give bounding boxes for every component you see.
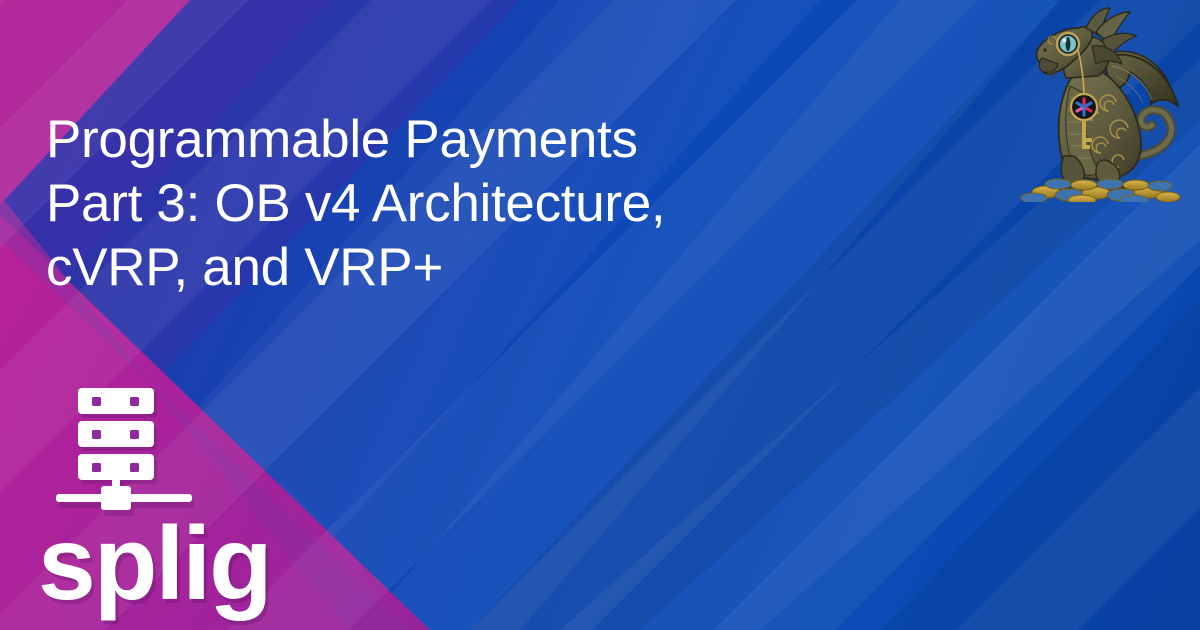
server-rack-network-icon [56,386,196,516]
page-title: Programmable Payments Part 3: OB v4 Arch… [46,108,706,300]
dragon-mascot [1012,6,1192,202]
brand-logo: splig [38,386,298,616]
social-card: Programmable Payments Part 3: OB v4 Arch… [0,0,1200,630]
brand-wordmark: splig [38,512,298,616]
